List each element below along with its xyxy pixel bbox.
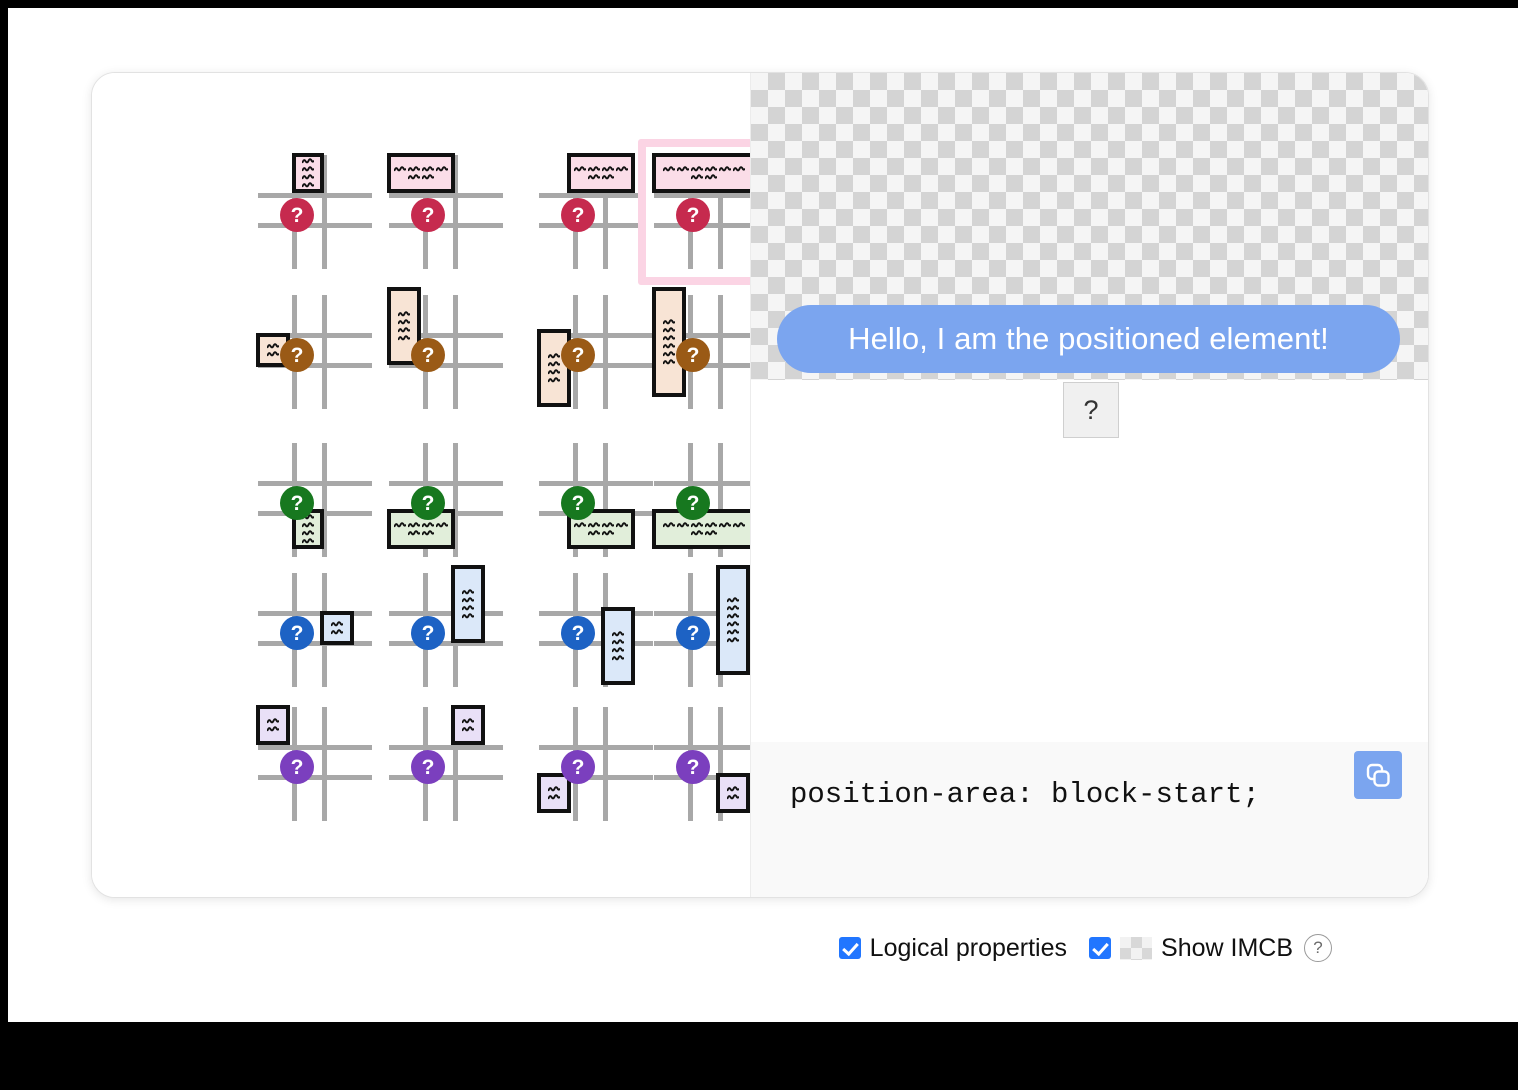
squiggle-icon [302,174,314,181]
squiggle-icon [588,522,600,529]
grid-line-vertical [322,707,327,821]
squiggle-icon [548,369,560,376]
squiggle-icon [663,343,675,350]
positioned-element-box [716,773,750,813]
grid-line-horizontal [539,193,653,198]
squiggle-icon [663,335,675,342]
grid-line-horizontal [258,223,372,228]
squiggle-icon [705,530,717,537]
grid-line-horizontal [258,641,372,646]
anchor-dot: ? [411,486,445,520]
position-area-tile[interactable]: ? [381,565,511,695]
squiggle-icon [602,166,614,173]
squiggle-icon [462,605,474,612]
squiggle-icon [267,718,279,725]
squiggle-icon [462,589,474,596]
squiggle-icon [705,174,717,181]
grid-line-horizontal [389,775,503,780]
squiggle-icon [462,718,474,725]
grid-line-horizontal [389,481,503,486]
anchor-dot: ? [561,198,595,232]
grid-line-vertical [322,295,327,409]
anchor-dot: ? [411,198,445,232]
squiggle-icon [302,182,314,189]
squiggle-icon [267,726,279,733]
grid-line-horizontal [258,611,372,616]
positioned-element-box [567,153,635,193]
squiggle-icon [574,522,586,529]
anchor-dot: ? [280,616,314,650]
grid-line-horizontal [539,641,653,646]
anchor-dot: ? [676,750,710,784]
position-area-tile[interactable]: ? [381,287,511,417]
position-area-tile[interactable]: ? [381,147,511,277]
squiggle-icon [727,597,739,604]
squiggle-icon [588,166,600,173]
squiggle-icon [331,621,343,628]
anchor-label: ? [1083,395,1098,426]
frame-top-bar [0,0,1518,8]
squiggle-icon [548,353,560,360]
squiggle-icon [548,377,560,384]
squiggle-icon [677,166,689,173]
positioned-element-box [451,565,485,643]
squiggle-icon [408,522,420,529]
anchor-dot: ? [280,198,314,232]
squiggle-icon [267,351,279,358]
squiggle-icon [733,166,745,173]
grid-line-horizontal [389,193,503,198]
anchor-dot: ? [561,486,595,520]
anchor-dot: ? [280,338,314,372]
positioned-element-box [451,705,485,745]
grid-line-horizontal [389,641,503,646]
squiggle-icon [719,522,731,529]
grid-line-horizontal [389,745,503,750]
anchor-dot: ? [561,616,595,650]
positioned-element-tooltip: Hello, I am the positioned element! [777,305,1400,373]
help-icon[interactable]: ? [1304,934,1332,962]
grid-line-horizontal [258,775,372,780]
squiggle-icon [727,613,739,620]
squiggle-icon [302,538,314,545]
squiggle-icon [422,166,434,173]
positioned-element-box [320,611,354,645]
squiggle-icon [719,166,731,173]
anchor-dot: ? [676,198,710,232]
squiggle-icon [733,522,745,529]
anchor-dot: ? [280,750,314,784]
anchor-dot: ? [676,486,710,520]
squiggle-icon [612,655,624,662]
squiggle-icon [616,522,628,529]
squiggle-icon [588,174,600,181]
position-area-tile[interactable]: ? [250,565,380,695]
code-output-panel: position-area: block-start; [751,742,1428,897]
grid-line-horizontal [539,481,653,486]
squiggle-icon [663,327,675,334]
position-area-tile[interactable]: ? [250,147,380,277]
squiggle-icon [727,794,739,801]
show-imcb-checkbox[interactable] [1089,937,1111,959]
positioned-element-box [292,153,324,193]
squiggle-icon [422,522,434,529]
position-area-tile[interactable]: ? [250,287,380,417]
anchor-dot: ? [280,486,314,520]
grid-line-horizontal [258,193,372,198]
squiggle-icon [588,530,600,537]
grid-line-vertical [603,707,608,821]
grid-line-vertical [453,295,458,409]
squiggle-icon [663,522,675,529]
squiggle-icon [727,629,739,636]
position-area-tile[interactable]: ? [250,435,380,565]
checkerboard-swatch-icon [1120,937,1152,960]
squiggle-icon [663,351,675,358]
show-imcb-label: Show IMCB [1161,934,1293,963]
grid-line-horizontal [258,745,372,750]
squiggle-icon [727,621,739,628]
anchor-dot: ? [411,616,445,650]
help-icon-label: ? [1313,938,1322,958]
squiggle-icon [462,613,474,620]
squiggle-icon [602,174,614,181]
squiggle-icon [408,174,420,181]
show-imcb-control[interactable]: Show IMCB [1089,934,1293,963]
squiggle-icon [663,359,675,366]
squiggle-icon [331,629,343,636]
squiggle-icon [302,530,314,537]
grid-line-horizontal [539,611,653,616]
squiggle-icon [677,522,689,529]
squiggle-icon [663,319,675,326]
tooltip-label: Hello, I am the positioned element! [848,321,1329,357]
squiggle-icon [691,530,703,537]
squiggle-icon [462,597,474,604]
squiggle-icon [394,166,406,173]
squiggle-icon [663,166,675,173]
copy-icon[interactable] [1354,751,1402,799]
logical-properties-control[interactable]: Logical properties [839,934,1067,963]
grid-line-horizontal [539,745,653,750]
position-area-tile[interactable]: ? [381,699,511,829]
grid-line-horizontal [389,223,503,228]
squiggle-icon [727,605,739,612]
squiggle-icon [398,335,410,342]
squiggle-icon [602,530,614,537]
positioned-element-box [537,329,571,407]
position-area-tile[interactable]: ? [531,435,661,565]
squiggle-icon [398,319,410,326]
squiggle-icon [398,311,410,318]
css-code-text: position-area: block-start; [790,778,1260,811]
squiggle-icon [612,647,624,654]
squiggle-icon [548,794,560,801]
positioned-element-box [652,153,756,193]
squiggle-icon [727,637,739,644]
squiggle-icon [462,726,474,733]
anchor-dot: ? [676,616,710,650]
footer-controls: Logical properties Show IMCB ? [0,925,1427,971]
squiggle-icon [612,631,624,638]
anchor-element[interactable]: ? [1063,382,1119,438]
squiggle-icon [394,522,406,529]
position-area-tile[interactable]: ? [381,435,511,565]
squiggle-icon [727,786,739,793]
squiggle-icon [302,158,314,165]
squiggle-icon [705,166,717,173]
squiggle-icon [691,174,703,181]
squiggle-icon [705,522,717,529]
position-area-tile[interactable]: ? [250,699,380,829]
anchor-dot: ? [676,338,710,372]
grid-line-vertical [718,295,723,409]
positioned-element-box [256,705,290,745]
grid-line-horizontal [539,223,653,228]
squiggle-icon [302,522,314,529]
grid-line-horizontal [258,481,372,486]
squiggle-icon [422,530,434,537]
position-area-picker-pane: ???????????????????? [92,73,750,897]
squiggle-icon [548,786,560,793]
squiggle-icon [602,522,614,529]
squiggle-icon [436,166,448,173]
position-area-demo-card: ???????????????????? Hello, I am the pos… [91,72,1429,898]
position-area-matrix[interactable]: ???????????????????? [92,73,750,897]
anchor-dot: ? [561,338,595,372]
positioned-element-box [716,565,750,675]
positioned-element-box [601,607,635,685]
preview-pane: Hello, I am the positioned element! ? po… [750,73,1428,897]
squiggle-icon [574,166,586,173]
squiggle-icon [408,530,420,537]
anchor-dot: ? [561,750,595,784]
squiggle-icon [548,361,560,368]
position-area-tile[interactable]: ? [531,565,661,695]
anchor-dot: ? [411,338,445,372]
position-area-tile[interactable]: ? [531,699,661,829]
squiggle-icon [408,166,420,173]
frame-bottom-bar [0,1022,1518,1090]
squiggle-icon [612,639,624,646]
squiggle-icon [302,166,314,173]
squiggle-icon [436,522,448,529]
positioned-element-box [387,153,455,193]
logical-properties-checkbox[interactable] [839,937,861,959]
grid-line-vertical [603,295,608,409]
squiggle-icon [691,522,703,529]
squiggle-icon [616,166,628,173]
anchor-dot: ? [411,750,445,784]
squiggle-icon [398,327,410,334]
squiggle-icon [422,174,434,181]
logical-properties-label: Logical properties [870,934,1067,963]
squiggle-icon [267,343,279,350]
position-area-tile[interactable]: ? [531,287,661,417]
grid-line-horizontal [389,611,503,616]
squiggle-icon [691,166,703,173]
